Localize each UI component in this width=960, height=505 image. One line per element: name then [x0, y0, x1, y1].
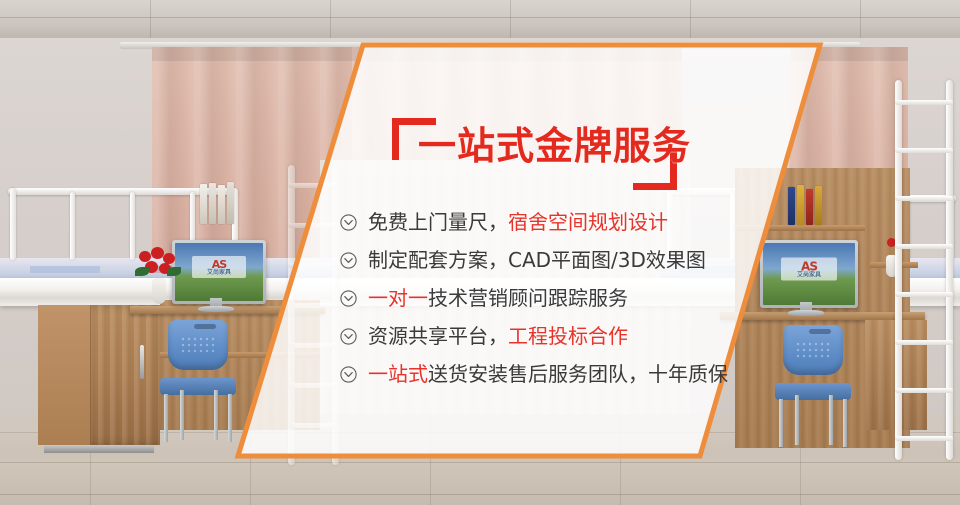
feature-plain-text: 送货安装售后服务团队，十年质保	[428, 362, 728, 386]
feature-item-label: 一对一技术营销顾问跟踪服务	[368, 288, 628, 308]
banner-content: 一站式金牌服务 免费上门量尺，宿舍空间规划设计制定配套方案，CAD平面图/3D效…	[0, 0, 960, 505]
feature-highlight-text: 一站式	[368, 362, 428, 386]
chevron-down-circle-icon	[340, 328, 357, 345]
feature-item: 免费上门量尺，宿舍空间规划设计	[340, 203, 760, 241]
chevron-down-circle-icon	[340, 366, 357, 383]
headline-block: 一站式金牌服务	[392, 118, 677, 190]
chevron-down-circle-icon	[340, 214, 357, 231]
feature-item-label: 资源共享平台，工程投标合作	[368, 326, 628, 346]
feature-plain-text: 技术营销顾问跟踪服务	[428, 286, 628, 310]
feature-item: 一站式送货安装售后服务团队，十年质保	[340, 355, 760, 393]
feature-item: 制定配套方案，CAD平面图/3D效果图	[340, 241, 760, 279]
feature-item-label: 一站式送货安装售后服务团队，十年质保	[368, 364, 728, 384]
feature-highlight-text: 工程投标合作	[508, 324, 628, 348]
feature-plain-text: 制定配套方案，CAD平面图/3D效果图	[368, 248, 706, 272]
feature-item: 资源共享平台，工程投标合作	[340, 317, 760, 355]
feature-plain-text: 资源共享平台，	[368, 324, 508, 348]
chevron-down-circle-icon	[340, 290, 357, 307]
feature-highlight-text: 宿舍空间规划设计	[508, 210, 668, 234]
feature-list: 免费上门量尺，宿舍空间规划设计制定配套方案，CAD平面图/3D效果图一对一技术营…	[340, 203, 760, 393]
feature-item-label: 制定配套方案，CAD平面图/3D效果图	[368, 250, 706, 270]
page-title: 一站式金牌服务	[418, 126, 691, 168]
feature-highlight-text: 一对一	[368, 286, 428, 310]
chevron-down-circle-icon	[340, 252, 357, 269]
promo-banner: AS 艾尚家具	[0, 0, 960, 505]
feature-item-label: 免费上门量尺，宿舍空间规划设计	[368, 212, 668, 232]
feature-item: 一对一技术营销顾问跟踪服务	[340, 279, 760, 317]
feature-plain-text: 免费上门量尺，	[368, 210, 508, 234]
